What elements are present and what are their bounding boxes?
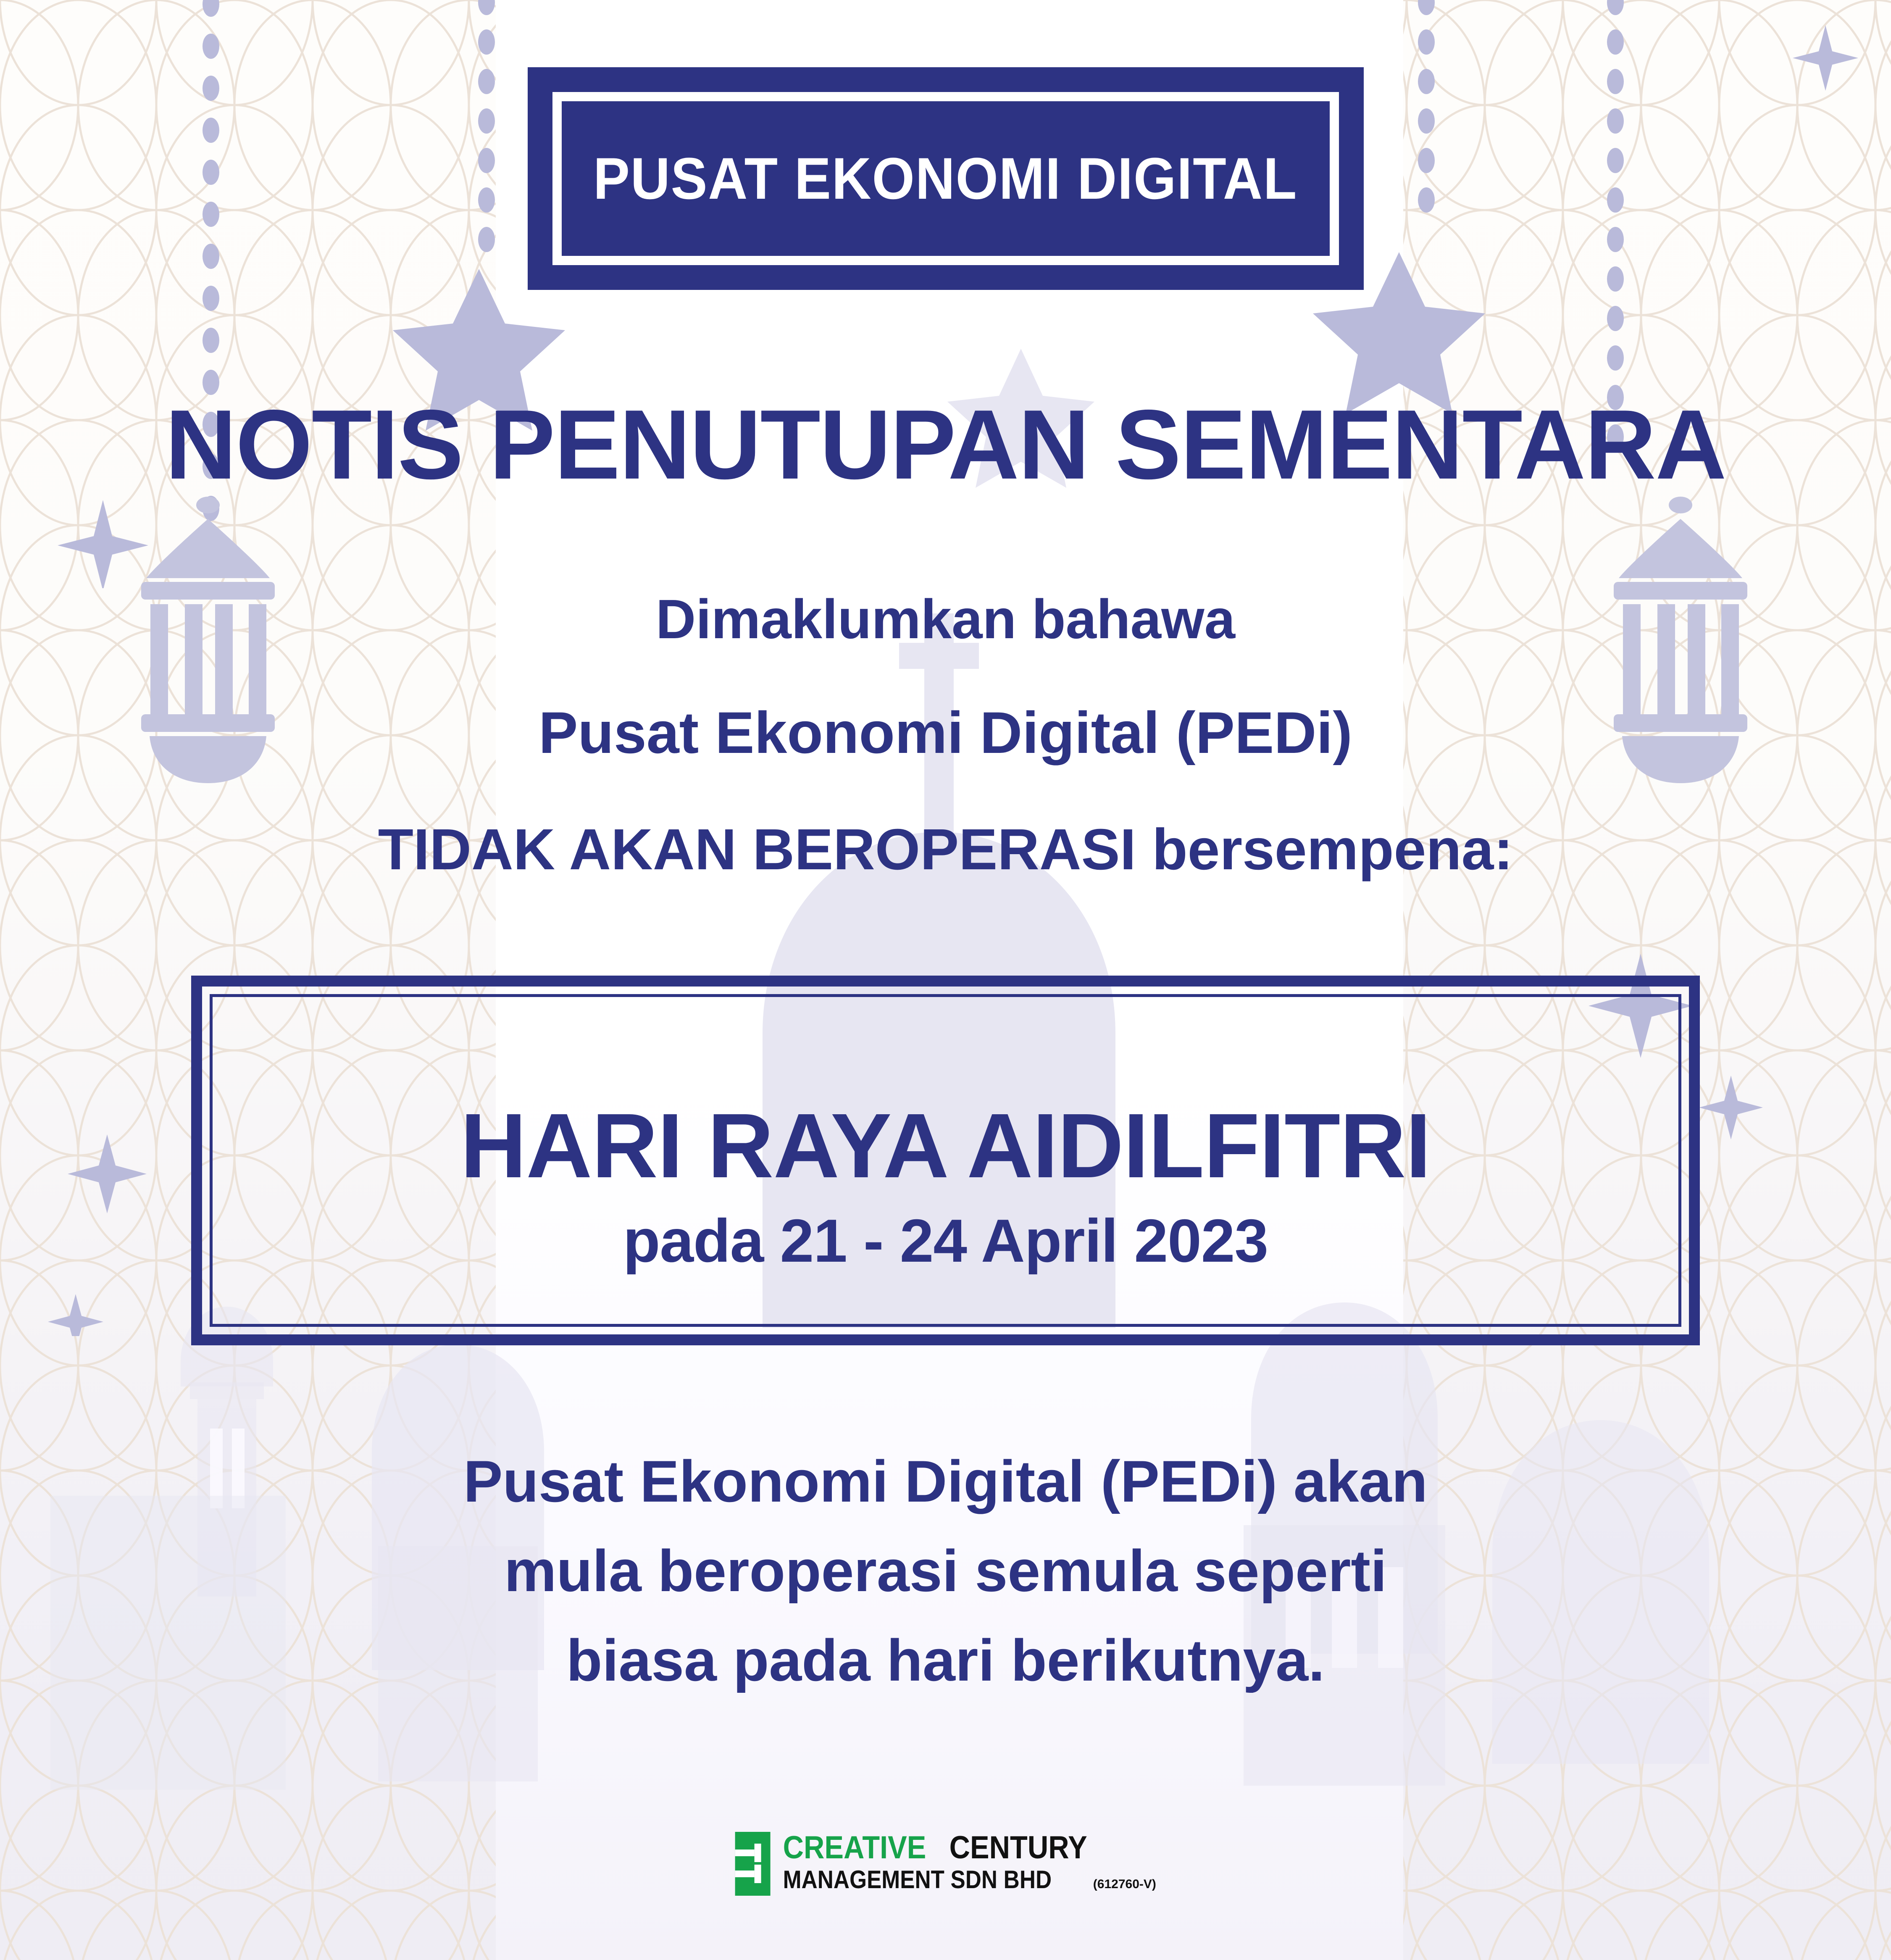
footer-logo-row-primary: CREATIVE CENTURY bbox=[783, 1832, 1156, 1864]
footer-logo-row-secondary: MANAGEMENT SDN BHD (612760-V) bbox=[783, 1867, 1156, 1892]
notice-line-3-light: bersempena: bbox=[1136, 817, 1513, 882]
notice-line-1: Dimaklumkan bahawa bbox=[0, 590, 1891, 649]
closing-line-2: mula beroperasi semula seperti bbox=[0, 1526, 1891, 1616]
logo-word-creative: CREATIVE bbox=[783, 1832, 926, 1864]
header-badge-inner-frame: PUSAT EKONOMI DIGITAL bbox=[552, 92, 1339, 265]
highlight-title: HARI RAYA AIDILFITRI bbox=[460, 1100, 1431, 1192]
header-badge-label: PUSAT EKONOMI DIGITAL bbox=[593, 149, 1297, 208]
notice-line-2: Pusat Ekonomi Digital (PEDi) bbox=[0, 702, 1891, 763]
notice-line-3-strong: TIDAK AKAN BEROPERASI bbox=[378, 817, 1136, 882]
notice-line-3: TIDAK AKAN BEROPERASI bersempena: bbox=[0, 819, 1891, 880]
logo-word-century: CENTURY bbox=[949, 1832, 1087, 1864]
logo-registration-number: (612760-V) bbox=[1093, 1878, 1156, 1891]
highlight-box: HARI RAYA AIDILFITRI pada 21 - 24 April … bbox=[191, 976, 1700, 1345]
highlight-subtitle: pada 21 - 24 April 2023 bbox=[623, 1210, 1268, 1271]
closing-line-1: Pusat Ekonomi Digital (PEDi) akan bbox=[0, 1437, 1891, 1526]
poster-canvas: PUSAT EKONOMI DIGITAL NOTIS PENUTUPAN SE… bbox=[0, 0, 1891, 1960]
footer-logo: CREATIVE CENTURY MANAGEMENT SDN BHD (612… bbox=[735, 1832, 1156, 1896]
footer-logo-text: CREATIVE CENTURY MANAGEMENT SDN BHD (612… bbox=[783, 1832, 1156, 1892]
page-title: NOTIS PENUTUPAN SEMENTARA bbox=[0, 395, 1891, 494]
closing-paragraph: Pusat Ekonomi Digital (PEDi) akan mula b… bbox=[0, 1437, 1891, 1705]
closing-line-3: biasa pada hari berikutnya. bbox=[0, 1616, 1891, 1705]
creative-century-mark-icon bbox=[735, 1832, 770, 1896]
header-badge: PUSAT EKONOMI DIGITAL bbox=[528, 67, 1364, 290]
highlight-box-inner-frame: HARI RAYA AIDILFITRI pada 21 - 24 April … bbox=[210, 994, 1681, 1327]
logo-tagline: MANAGEMENT SDN BHD bbox=[783, 1867, 1051, 1892]
